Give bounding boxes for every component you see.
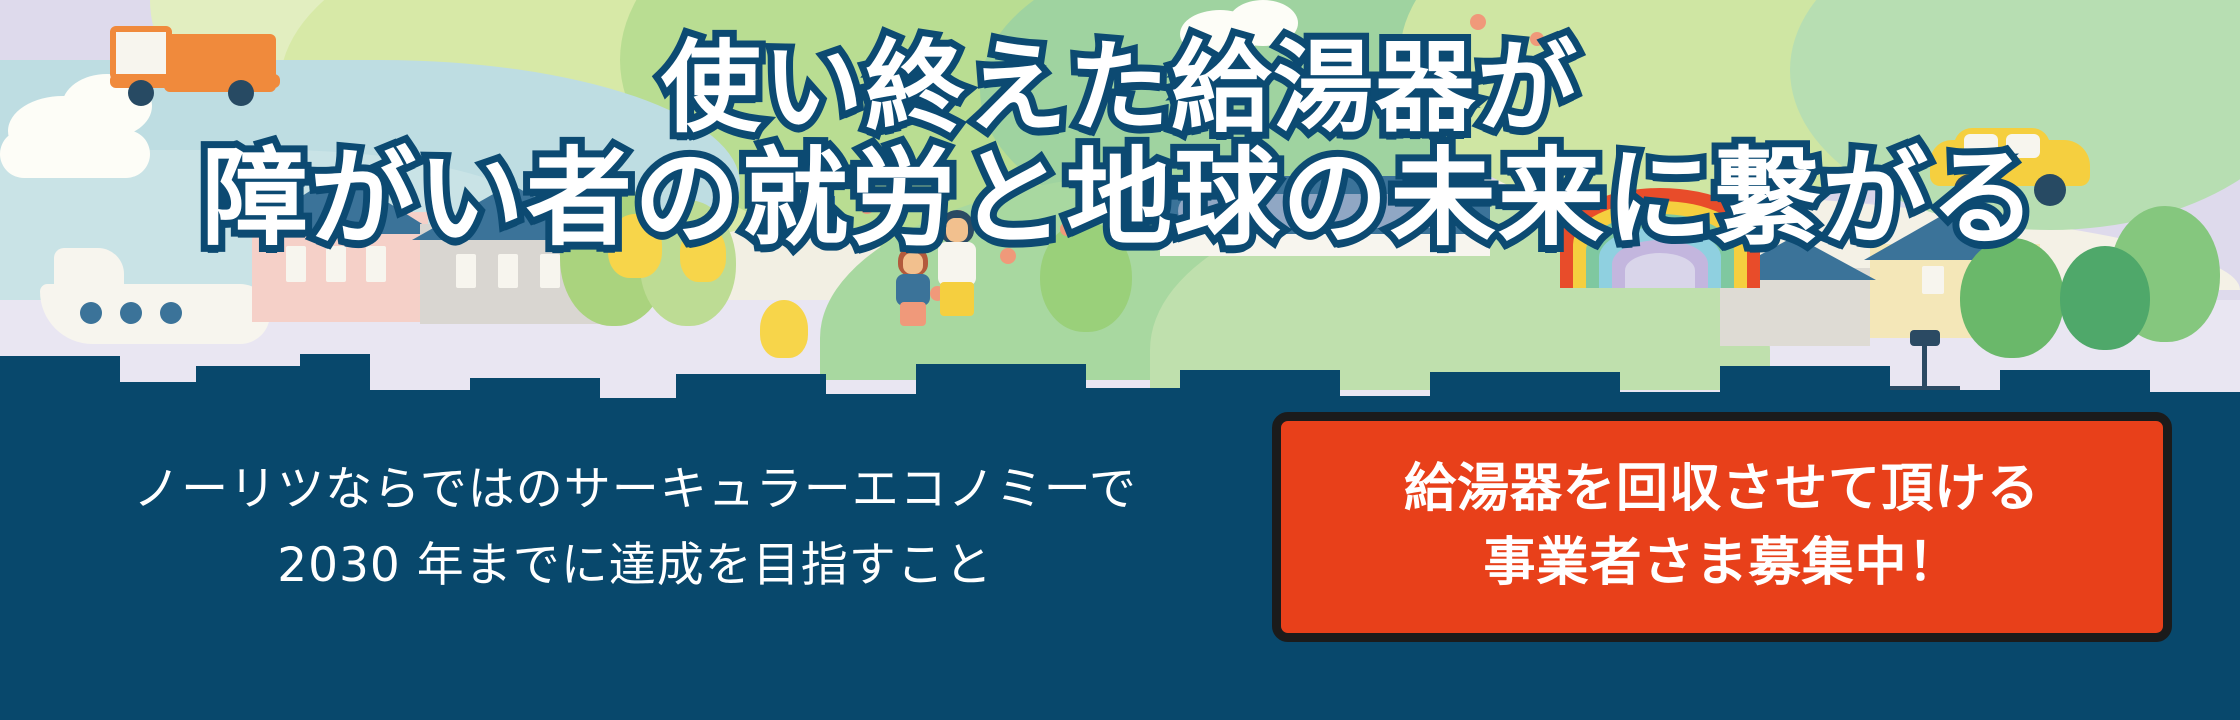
banner-headline: 使い終えた給湯器が 障がい者の就労と地球の未来に繋がる (0, 34, 2240, 256)
city-silhouette (0, 330, 2240, 420)
headline-line-2: 障がい者の就労と地球の未来に繋がる (202, 142, 2038, 256)
recruit-business-cta-button[interactable]: 給湯器を回収させて頂ける 事業者さま募集中！ (1272, 412, 2172, 642)
promo-banner: 使い終えた給湯器が 障がい者の就労と地球の未来に繋がる ノーリツならではのサーキ… (0, 0, 2240, 720)
headline-line-1: 使い終えた給湯器が (661, 34, 1579, 142)
flower-icon (1470, 14, 1486, 30)
cta-line-1: 給湯器を回収させて頂ける (1404, 453, 2040, 527)
cta-line-2: 事業者さま募集中！ (1483, 527, 1960, 601)
subtitle-line-2: 2030 年までに達成を目指すこと (60, 528, 1210, 604)
subtitle-line-1: ノーリツならではのサーキュラーエコノミーで (60, 452, 1210, 528)
banner-subtitle: ノーリツならではのサーキュラーエコノミーで 2030 年までに達成を目指すこと (60, 452, 1210, 604)
